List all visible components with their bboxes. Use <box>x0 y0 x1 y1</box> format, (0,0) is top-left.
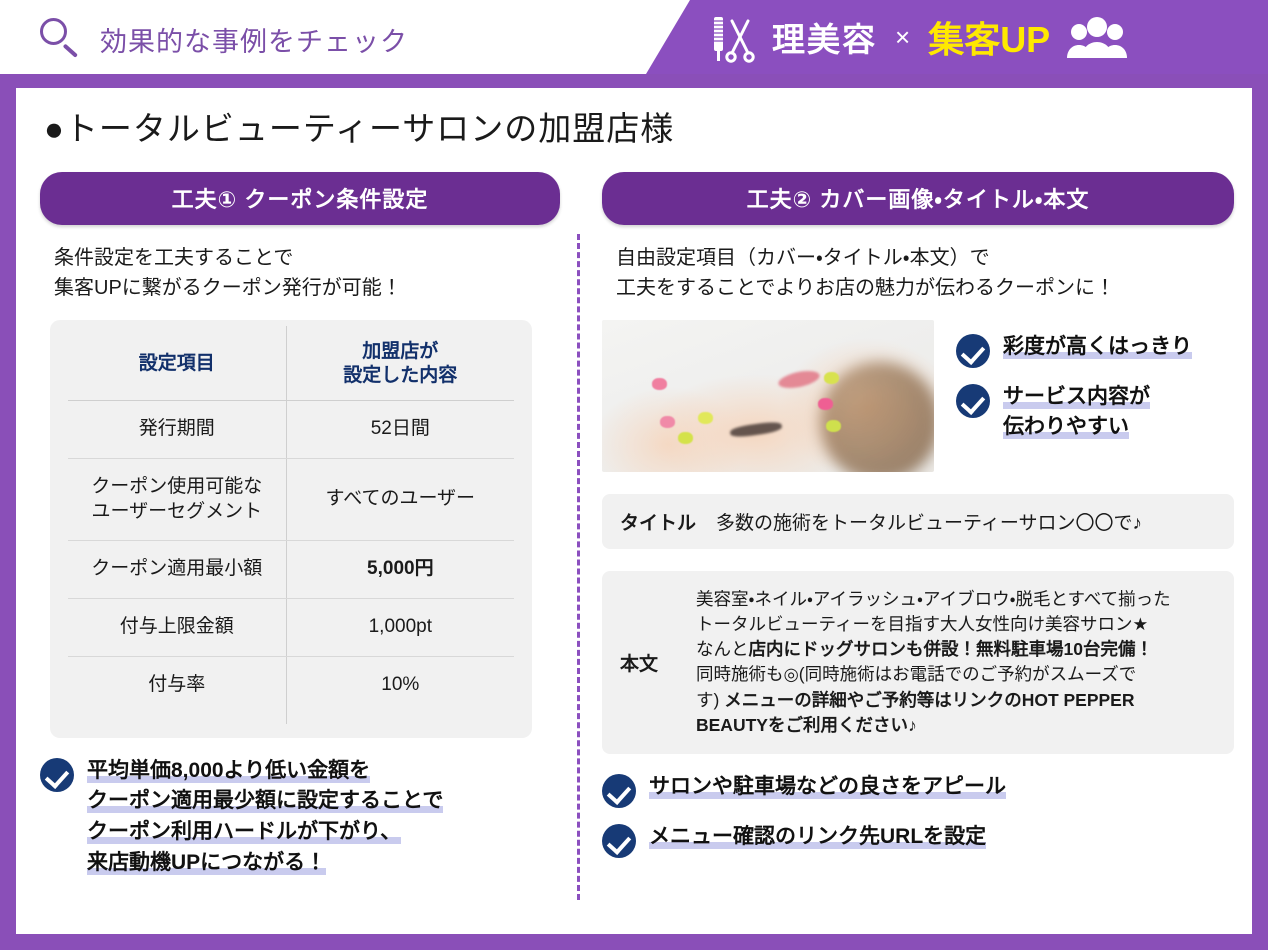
check-circle-icon <box>602 824 636 858</box>
cover-bullet-item: サービス内容が 伝わりやすい <box>956 382 1192 443</box>
check-circle-icon <box>602 774 636 808</box>
table-cell-label: 付与上限金額 <box>68 599 286 657</box>
banner-title: 理美容 <box>772 13 877 61</box>
cover-bullet-line-1: 彩度が高くはっきり <box>1003 335 1192 359</box>
body-line-3-bold: 店内にドッグサロンも併設！無料駐車場10台完備！ <box>749 639 1153 659</box>
settings-table-body: 発行期間 52日間 クーポン使用可能な ユーザーセグメント すべてのユーザー <box>68 401 514 724</box>
table-row: クーポン適用最小額 5,000円 <box>68 541 514 599</box>
body-line-3: なんと店内にドッグサロンも併設！無料駐車場10台完備！ <box>696 637 1171 662</box>
column-divider <box>577 234 580 900</box>
cover-bullet-list: 彩度が高くはっきり サービス内容が 伝わりやすい <box>956 320 1192 457</box>
check-circle-icon <box>956 334 990 368</box>
cover-bullet-text: サービス内容が 伝わりやすい <box>1003 382 1150 443</box>
body-line-5: す) メニューの詳細やご予約等はリンクのHOT PEPPER <box>696 688 1171 713</box>
table-header-col1: 設定項目 <box>68 326 286 401</box>
table-cell-value: 10% <box>286 656 514 723</box>
left-lead-line-1: 条件設定を工夫することで <box>54 243 560 273</box>
body-field-value: 美容室・ネイル・アイラッシュ・アイブロウ・脱毛とすべて揃った トータルビューティ… <box>696 587 1171 738</box>
content-card: ●トータルビューティーサロンの加盟店様 工夫① クーポン条件設定 条件設定を工夫… <box>16 88 1252 934</box>
left-lead-text: 条件設定を工夫することで 集客UPに繋がるクーポン発行が可能！ <box>40 243 560 304</box>
left-callout-list: 平均単価8,000より低い金額を クーポン適用最少額に設定することで クーポン利… <box>40 756 560 879</box>
cover-bullet-line-2: 伝わりやすい <box>1003 415 1129 439</box>
cover-photo-nail <box>652 378 667 390</box>
check-circle-icon <box>956 384 990 418</box>
right-column: 工夫② カバー画像・タイトル・本文 自由設定項目（カバー・タイトル・本文）で 工… <box>602 172 1234 872</box>
right-bottom-bullet-item: メニュー確認のリンク先URLを設定 <box>602 822 1234 858</box>
search-icon <box>38 16 84 62</box>
cover-bullet-item: 彩度が高くはっきり <box>956 332 1192 368</box>
title-field-label: タイトル <box>620 508 696 535</box>
settings-table-panel: 設定項目 加盟店が 設定した内容 発行期間 52日間 <box>50 320 532 738</box>
settings-table-head: 設定項目 加盟店が 設定した内容 <box>68 326 514 401</box>
body-line-2: トータルビューティーを目指す大人女性向け美容サロン★ <box>696 612 1171 637</box>
cover-row: 彩度が高くはっきり サービス内容が 伝わりやすい <box>602 320 1234 472</box>
table-row: 付与上限金額 1,000pt <box>68 599 514 657</box>
table-cell-label: 発行期間 <box>68 401 286 459</box>
body-field-label: 本文 <box>620 649 676 676</box>
left-callout-line-3: クーポン利用ハードルが下がり、 <box>87 820 401 844</box>
table-header-col2-line1: 加盟店が <box>291 340 510 364</box>
table-cell-value: 5,000円 <box>286 541 514 599</box>
left-callout-line-1: 平均単価8,000より低い金額を <box>87 759 370 783</box>
table-cell-label: 付与率 <box>68 656 286 723</box>
table-header-col2-line2: 設定した内容 <box>291 364 510 388</box>
left-lead-line-2: 集客UPに繋がるクーポン発行が可能！ <box>54 273 560 303</box>
body-line-5-bold: メニューの詳細やご予約等はリンクのHOT PEPPER <box>719 690 1134 710</box>
table-row: クーポン使用可能な ユーザーセグメント すべてのユーザー <box>68 459 514 541</box>
left-callout-item: 平均単価8,000より低い金額を クーポン適用最少額に設定することで クーポン利… <box>40 756 560 879</box>
right-bottom-bullet-text: メニュー確認のリンク先URLを設定 <box>649 822 986 853</box>
table-header-row: 設定項目 加盟店が 設定した内容 <box>68 326 514 401</box>
left-callout-line-4: 来店動機UPにつながる！ <box>87 851 326 875</box>
slide-root: 効果的な事例をチェック <box>0 0 1268 950</box>
table-header-col2: 加盟店が 設定した内容 <box>286 326 514 401</box>
table-cell-value: 52日間 <box>286 401 514 459</box>
table-row: 付与率 10% <box>68 656 514 723</box>
cover-photo-nail <box>818 398 833 410</box>
table-cell-label-line2: ユーザーセグメント <box>72 500 282 525</box>
people-group-icon <box>1066 16 1128 58</box>
body-line-6-bold: BEAUTYをご利用ください♪ <box>696 715 917 735</box>
body-line-4: 同時施術も◎(同時施術はお電話でのご予約がスムーズで <box>696 662 1171 687</box>
table-row: 発行期間 52日間 <box>68 401 514 459</box>
cover-photo-nail <box>826 420 841 432</box>
cover-photo-nail <box>678 432 693 444</box>
search-label-group: 効果的な事例をチェック <box>38 16 408 62</box>
right-lead-line-2: 工夫をすることでよりお店の魅力が伝わるクーポンに！ <box>616 273 1234 303</box>
banner-x-mark: × <box>895 22 910 53</box>
right-bottom-bullet-label: サロンや駐車場などの良さをアピール <box>649 775 1006 799</box>
right-bottom-bullet-item: サロンや駐車場などの良さをアピール <box>602 772 1234 808</box>
cover-bullet-line-1: サービス内容が <box>1003 385 1150 409</box>
body-line-6: BEAUTYをご利用ください♪ <box>696 713 1171 738</box>
right-bottom-bullet-text: サロンや駐車場などの良さをアピール <box>649 772 1006 803</box>
purple-frame: ●トータルビューティーサロンの加盟店様 工夫① クーポン条件設定 条件設定を工夫… <box>0 74 1268 950</box>
brand-banner-inner: 理美容 × 集客UP <box>646 11 1128 63</box>
cover-photo <box>602 320 934 472</box>
right-bottom-bullet-label: メニュー確認のリンク先URLを設定 <box>649 825 986 849</box>
banner-up-label: 集客UP <box>928 11 1050 63</box>
comb-scissors-icon <box>712 11 758 63</box>
right-lead-text: 自由設定項目（カバー・タイトル・本文）で 工夫をすることでよりお店の魅力が伝わる… <box>602 243 1234 304</box>
cover-bullet-text: 彩度が高くはっきり <box>1003 332 1192 363</box>
body-line-3-plain: なんと <box>696 639 749 659</box>
left-callout-text: 平均単価8,000より低い金額を クーポン適用最少額に設定することで クーポン利… <box>87 756 443 879</box>
table-cell-value: 1,000pt <box>286 599 514 657</box>
settings-table: 設定項目 加盟店が 設定した内容 発行期間 52日間 <box>68 326 514 724</box>
left-section-badge: 工夫① クーポン条件設定 <box>40 172 560 225</box>
right-lead-line-1: 自由設定項目（カバー・タイトル・本文）で <box>616 243 1234 273</box>
top-bar: 効果的な事例をチェック <box>0 0 1268 78</box>
cover-photo-nail <box>698 412 713 424</box>
page-title: ●トータルビューティーサロンの加盟店様 <box>44 102 674 150</box>
right-bottom-bullet-list: サロンや駐車場などの良さをアピール メニュー確認のリンク先URLを設定 <box>602 772 1234 858</box>
right-section-badge: 工夫② カバー画像・タイトル・本文 <box>602 172 1234 225</box>
body-field-row: 本文 美容室・ネイル・アイラッシュ・アイブロウ・脱毛とすべて揃った トータルビュ… <box>602 571 1234 754</box>
body-line-5-plain: す) <box>696 690 719 710</box>
cover-photo-nail <box>660 416 675 428</box>
table-cell-value: すべてのユーザー <box>286 459 514 541</box>
body-line-1: 美容室・ネイル・アイラッシュ・アイブロウ・脱毛とすべて揃った <box>696 587 1171 612</box>
table-cell-label: クーポン適用最小額 <box>68 541 286 599</box>
brand-banner: 理美容 × 集客UP <box>646 0 1268 74</box>
title-field-row: タイトル 多数の施術をトータルビューティーサロン〇〇で♪ <box>602 494 1234 549</box>
cover-photo-lips <box>777 368 821 391</box>
left-callout-line-2: クーポン適用最少額に設定することで <box>87 789 443 813</box>
cover-photo-nail <box>824 372 839 384</box>
title-field-value: 多数の施術をトータルビューティーサロン〇〇で♪ <box>716 508 1142 535</box>
table-cell-label-line1: クーポン使用可能な <box>72 475 282 500</box>
cover-photo-brow <box>729 420 782 438</box>
left-column: 工夫① クーポン条件設定 条件設定を工夫することで 集客UPに繋がるクーポン発行… <box>40 172 560 892</box>
search-label-text: 効果的な事例をチェック <box>100 20 408 59</box>
check-circle-icon <box>40 758 74 792</box>
table-cell-label: クーポン使用可能な ユーザーセグメント <box>68 459 286 541</box>
